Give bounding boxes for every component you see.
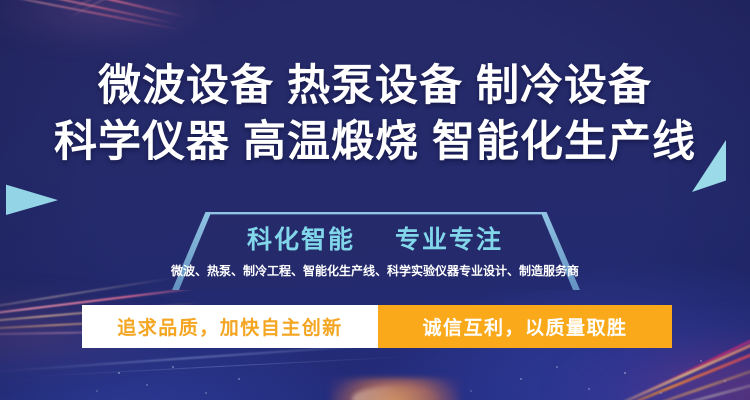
subtitle-right: 专业专注	[395, 226, 503, 254]
headline-line-1: 微波设备 热泵设备 制冷设备	[0, 58, 750, 114]
slogan-bar: 追求品质，加快自主创新 诚信互利，以质量取胜	[82, 305, 672, 348]
slogan-left: 追求品质，加快自主创新	[82, 305, 378, 348]
headline-line-2: 科学仪器 高温煅烧 智能化生产线	[0, 114, 750, 170]
description-text: 微波、热泵、制冷工程、智能化生产线、科学实验仪器专业设计、制造服务商	[0, 263, 750, 279]
subtitle: 科化智能 专业专注	[0, 224, 750, 256]
promo-banner: 微波设备 热泵设备 制冷设备 科学仪器 高温煅烧 智能化生产线 科化智能 专业专…	[0, 0, 750, 400]
slogan-right: 诚信互利，以质量取胜	[378, 305, 672, 348]
subtitle-left: 科化智能	[247, 226, 355, 254]
page-title: 微波设备 热泵设备 制冷设备 科学仪器 高温煅烧 智能化生产线	[0, 58, 750, 170]
